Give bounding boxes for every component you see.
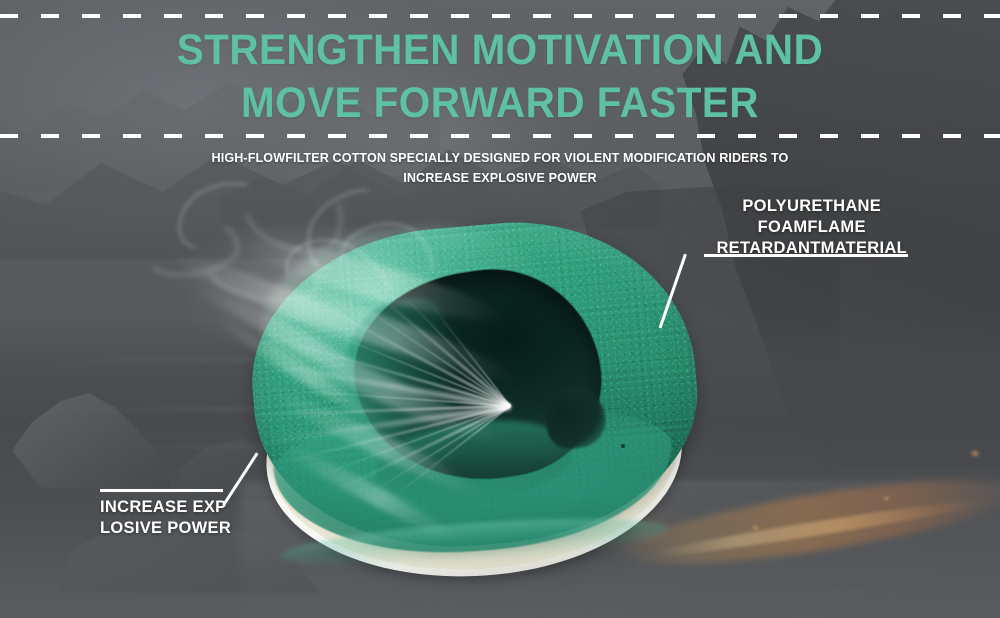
dashed-divider-middle xyxy=(0,134,1000,138)
callout-material: POLYURETHANE FOAMFLAME RETARDANTMATERIAL xyxy=(716,196,907,259)
product-air-filter xyxy=(248,222,700,580)
callout-power-line-1: INCREASE EXP xyxy=(100,497,231,518)
subtitle-line-1: HIGH-FLOWFILTER COTTON SPECIALLY DESIGNE… xyxy=(180,148,820,168)
dashed-divider-top xyxy=(0,14,1000,18)
promo-banner: STRENGTHEN MOTIVATION AND MOVE FORWARD F… xyxy=(0,0,1000,618)
headline-line-1: STRENGTHEN MOTIVATION AND xyxy=(30,24,970,77)
subtitle-line-2: INCREASE EXPLOSIVE POWER xyxy=(180,168,820,188)
headline-line-2: MOVE FORWARD FASTER xyxy=(30,77,970,130)
callout-power: INCREASE EXP LOSIVE POWER xyxy=(100,497,231,539)
callout-material-line-1: POLYURETHANE xyxy=(716,196,907,217)
callout-power-leader-horizontal xyxy=(100,489,223,492)
page-title: STRENGTHEN MOTIVATION AND MOVE FORWARD F… xyxy=(0,24,1000,131)
callout-power-line-2: LOSIVE POWER xyxy=(100,518,231,539)
subtitle: HIGH-FLOWFILTER COTTON SPECIALLY DESIGNE… xyxy=(180,148,820,189)
callout-material-line-2: FOAMFLAME xyxy=(716,217,907,238)
callout-material-leader-horizontal xyxy=(704,254,908,257)
foam-surface-speck xyxy=(621,444,625,448)
